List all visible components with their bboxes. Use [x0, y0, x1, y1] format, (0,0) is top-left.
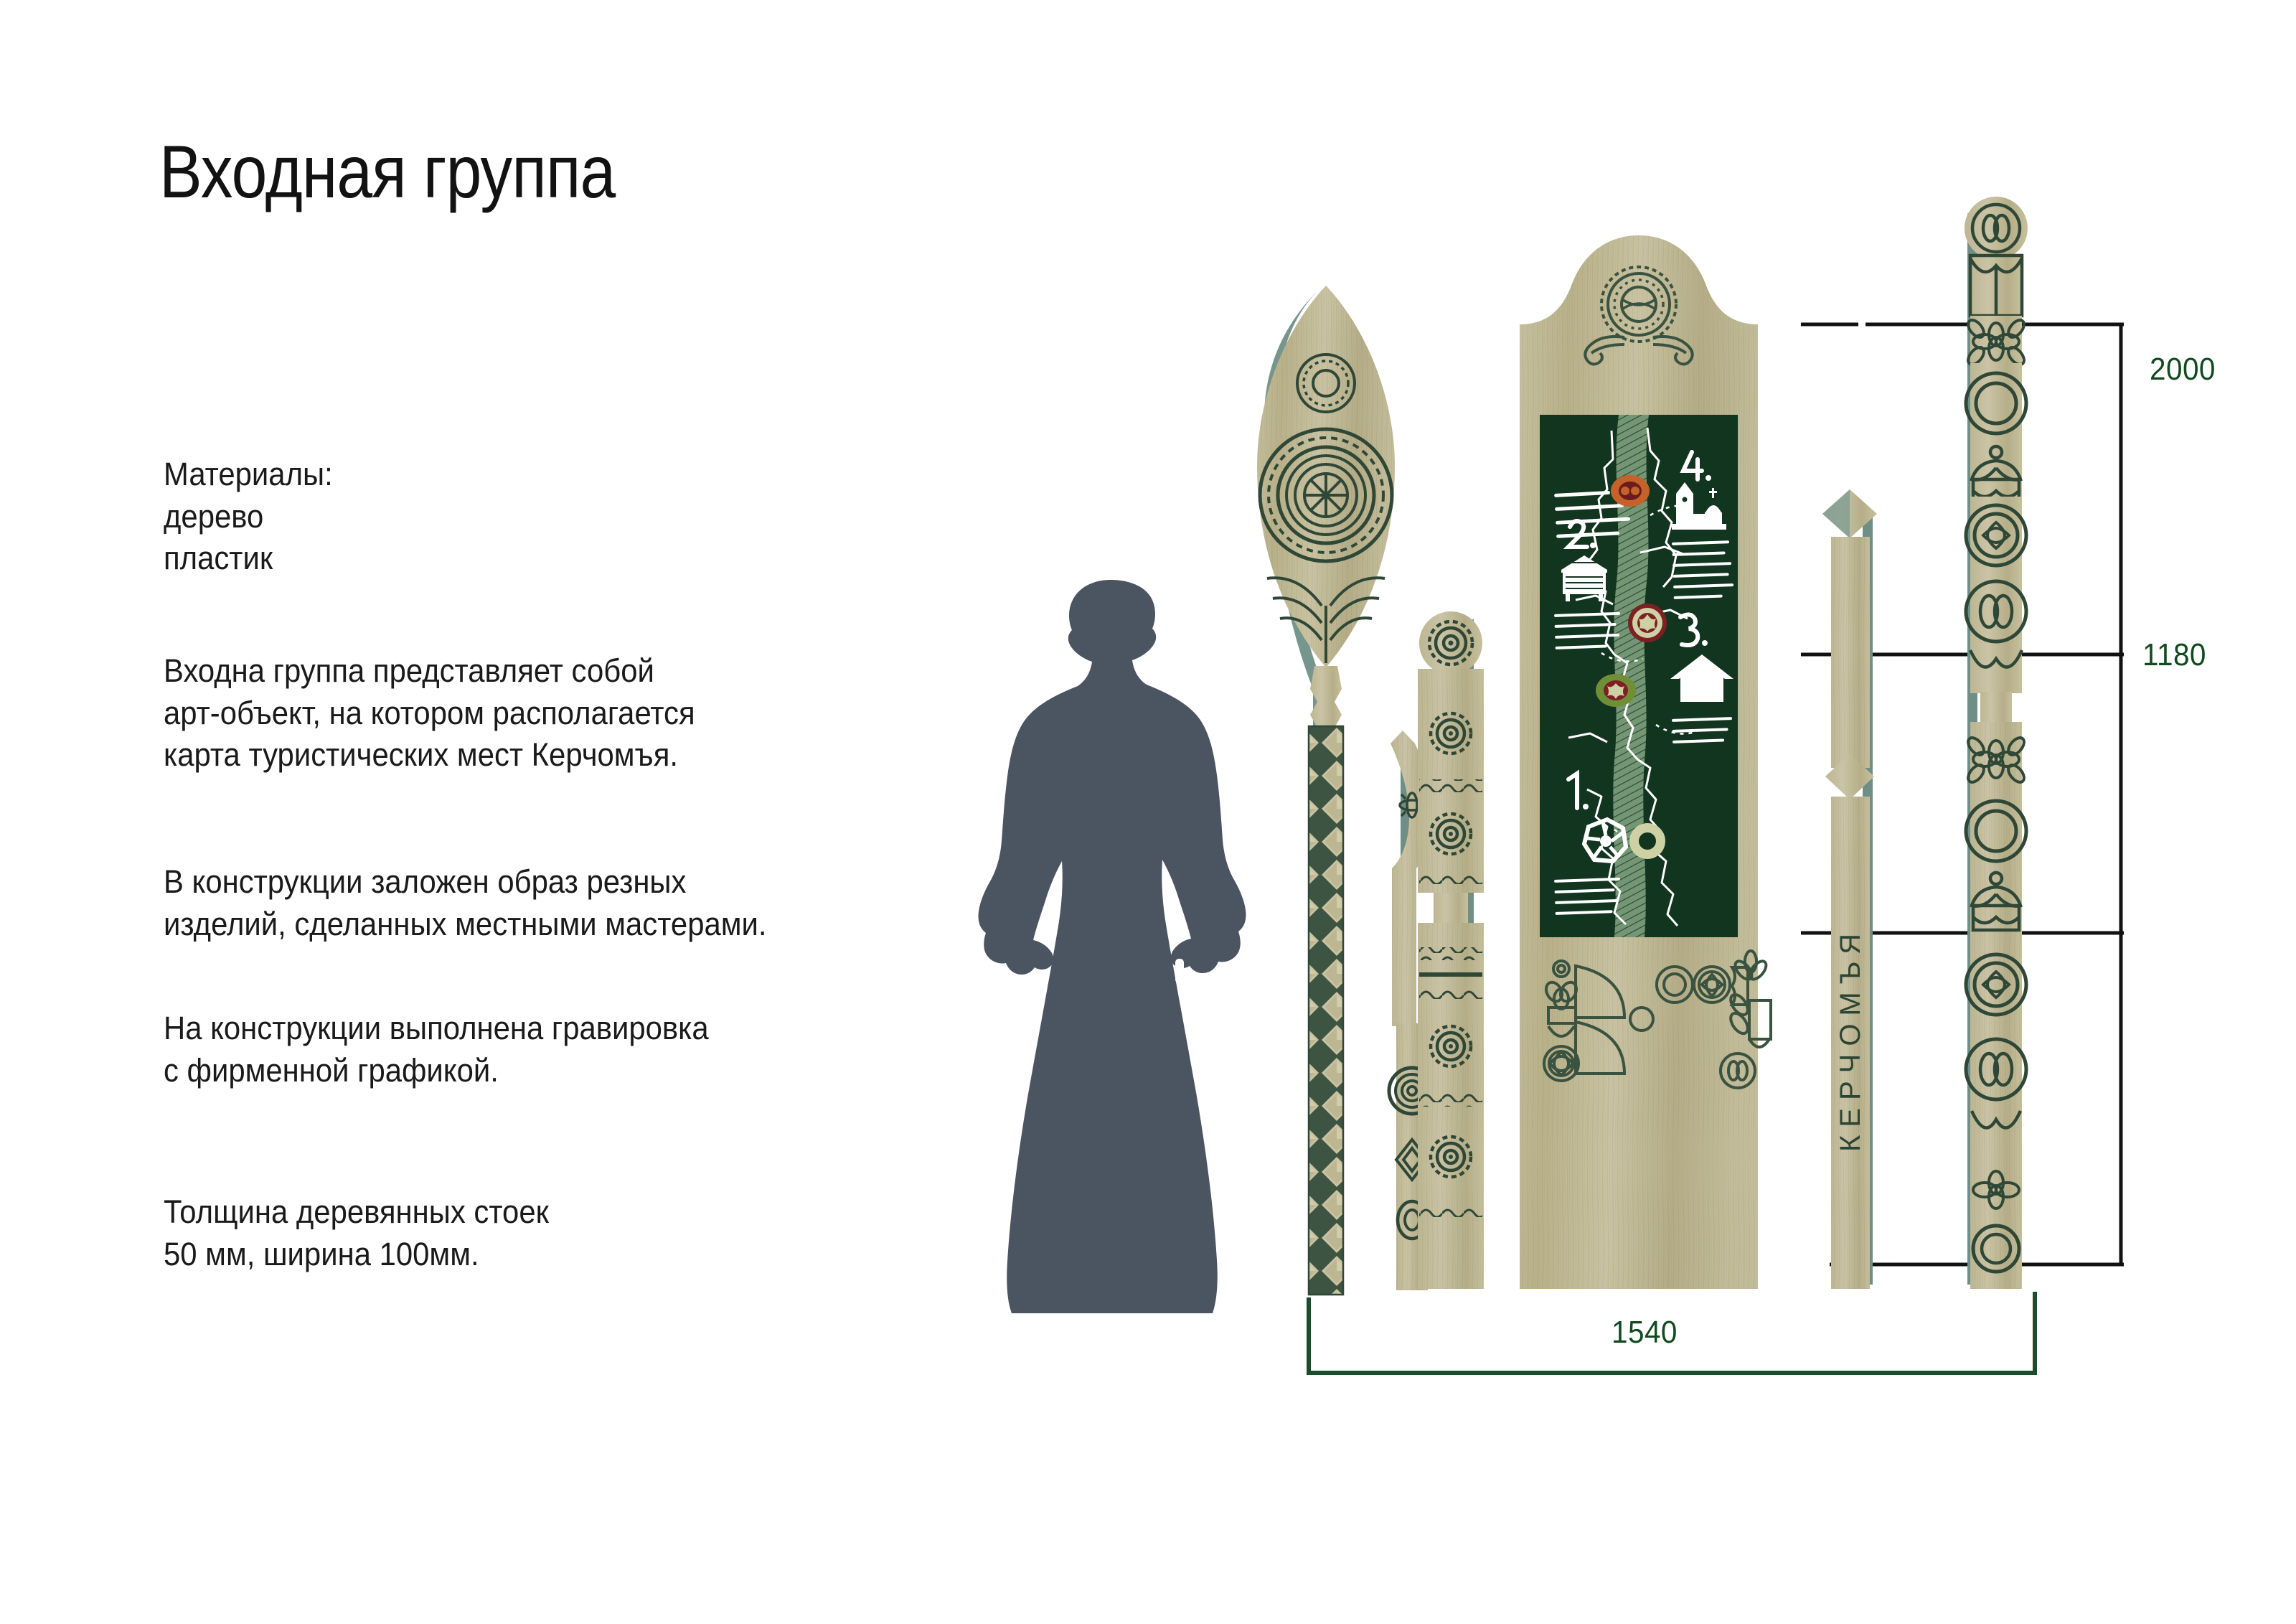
kerchomya-label: КЕРЧОМЪЯ [1835, 926, 1866, 1152]
kerchomya-post: КЕРЧОМЪЯ [1822, 489, 1877, 1289]
map-marker-3 [1628, 604, 1667, 642]
dimension-label-1540: 1540 [1612, 1315, 1678, 1351]
map-marker-1 [1629, 823, 1665, 859]
info-board [1520, 235, 1771, 1289]
map-panel [1540, 415, 1738, 937]
art-object-group: КЕРЧОМЪЯ [0, 0, 2296, 1624]
totem-bowl [1970, 649, 2022, 693]
dimension-label-2000: 2000 [2150, 352, 2216, 388]
dimension-label-1180: 1180 [2142, 637, 2206, 673]
map-marker-green [1596, 674, 1636, 707]
rosette-post [1418, 611, 1484, 1289]
totem-post [1965, 197, 2028, 1289]
paddle-post [1257, 286, 1395, 1295]
totem-sprout [1970, 442, 2022, 504]
map-marker-4 [1611, 475, 1650, 507]
totem-petal-band-a [1965, 316, 2027, 367]
